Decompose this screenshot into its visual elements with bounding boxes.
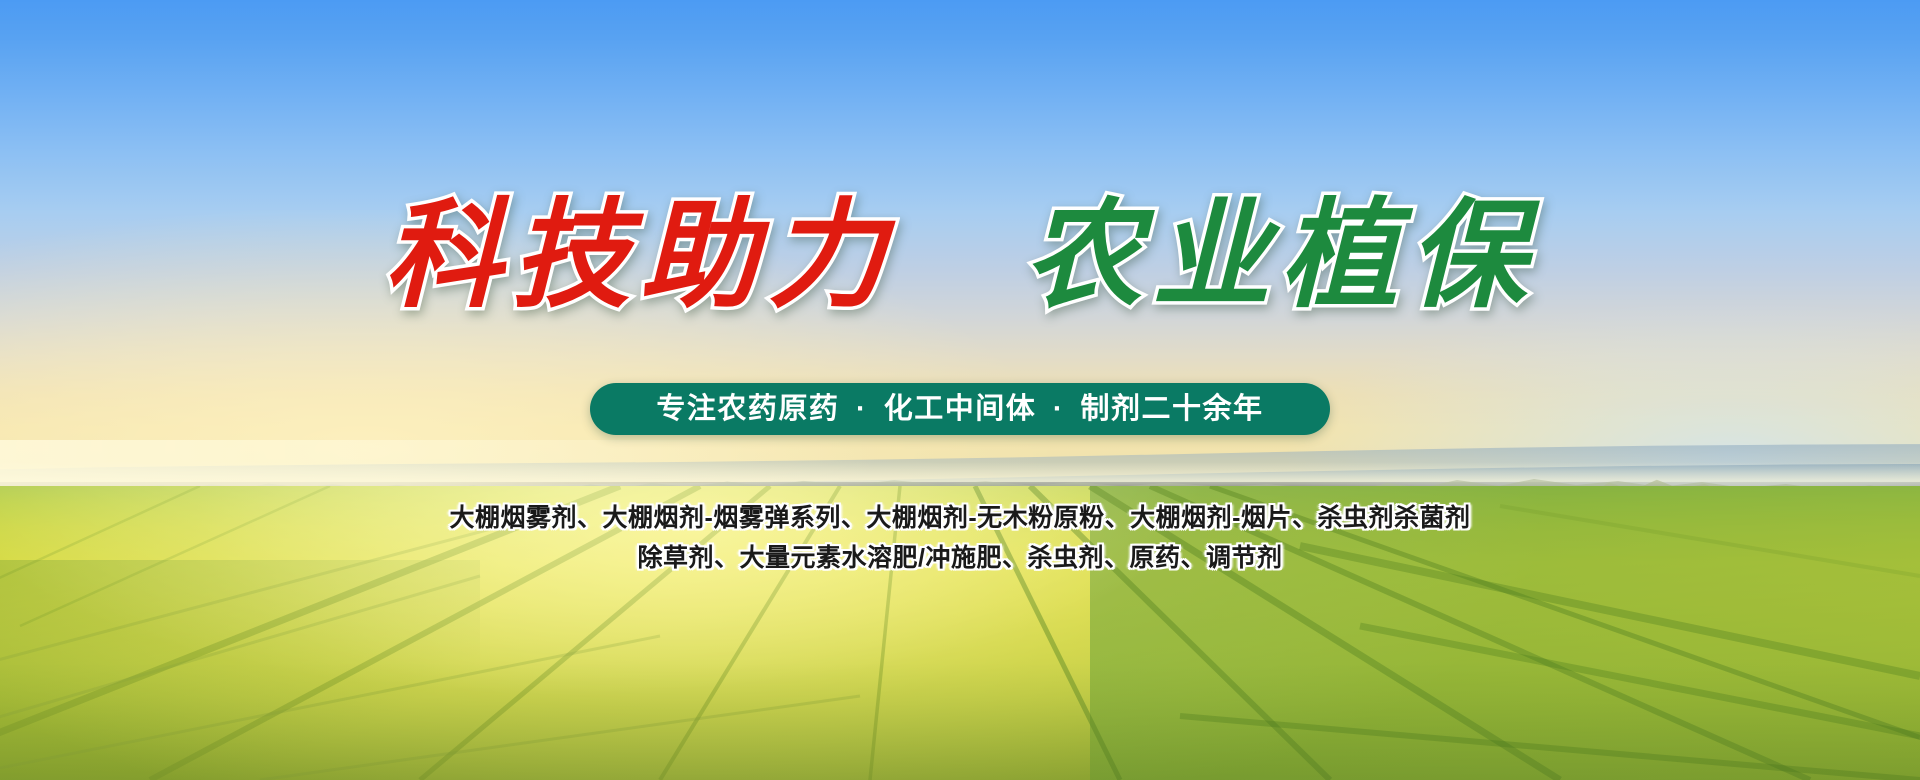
- hero-banner: 科技助力 农业植保 专注农药原药 · 化工中间体 · 制剂二十余年 大棚烟雾剂、…: [0, 0, 1920, 780]
- product-line-2: 除草剂、大量元素水溶肥/冲施肥、杀虫剂、原药、调节剂: [0, 538, 1920, 578]
- headline-segment-green: 农业植保: [1024, 196, 1536, 314]
- tagline-pill: 专注农药原药 · 化工中间体 · 制剂二十余年: [590, 383, 1330, 435]
- banner-content: 科技助力 农业植保 专注农药原药 · 化工中间体 · 制剂二十余年 大棚烟雾剂、…: [0, 0, 1920, 780]
- banner-headline: 科技助力 农业植保: [0, 196, 1920, 314]
- tagline-separator-1: ·: [849, 393, 874, 425]
- product-list: 大棚烟雾剂、大棚烟剂-烟雾弹系列、大棚烟剂-无木粉原粉、大棚烟剂-烟片、杀虫剂杀…: [0, 498, 1920, 578]
- headline-segment-red: 科技助力: [384, 196, 896, 314]
- tagline-part-1: 专注农药原药: [656, 393, 839, 425]
- tagline-part-3: 制剂二十余年: [1081, 393, 1264, 425]
- tagline-part-2: 化工中间体: [884, 393, 1037, 425]
- tagline-separator-2: ·: [1046, 393, 1071, 425]
- product-line-1: 大棚烟雾剂、大棚烟剂-烟雾弹系列、大棚烟剂-无木粉原粉、大棚烟剂-烟片、杀虫剂杀…: [0, 498, 1920, 538]
